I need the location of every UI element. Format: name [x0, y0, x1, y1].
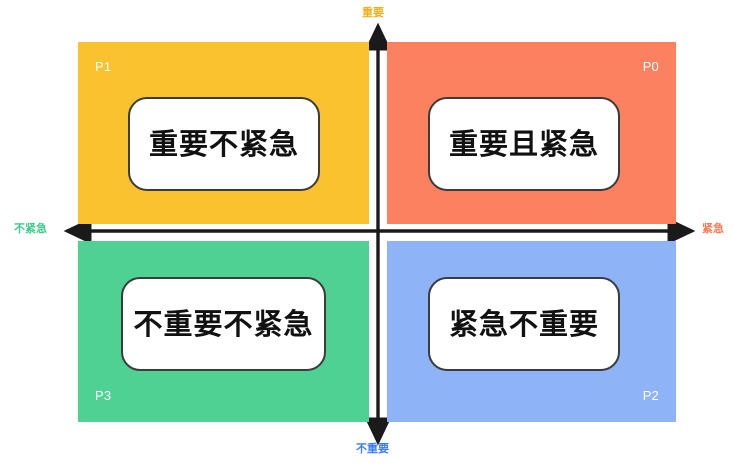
card-p0[interactable]: 重要且紧急	[428, 97, 620, 191]
axis-label-urgent: 紧急	[702, 224, 724, 235]
card-p2[interactable]: 紧急不重要	[428, 277, 620, 371]
card-p3[interactable]: 不重要不紧急	[121, 277, 326, 371]
card-p3-label: 不重要不紧急	[133, 310, 313, 339]
quadrant-p0-tag: P0	[643, 60, 659, 73]
axis-label-not-urgent: 不紧急	[14, 224, 47, 235]
card-p1[interactable]: 重要不紧急	[128, 97, 320, 191]
quadrant-p1-tag: P1	[95, 60, 111, 73]
axis-label-not-important: 不重要	[356, 444, 389, 455]
axis-label-important: 重要	[362, 8, 384, 19]
card-p2-label: 紧急不重要	[449, 310, 599, 339]
card-p1-label: 重要不紧急	[149, 130, 299, 159]
quadrant-p3-tag: P3	[95, 389, 111, 402]
card-p0-label: 重要且紧急	[449, 130, 599, 159]
quadrant-p2-tag: P2	[643, 389, 659, 402]
